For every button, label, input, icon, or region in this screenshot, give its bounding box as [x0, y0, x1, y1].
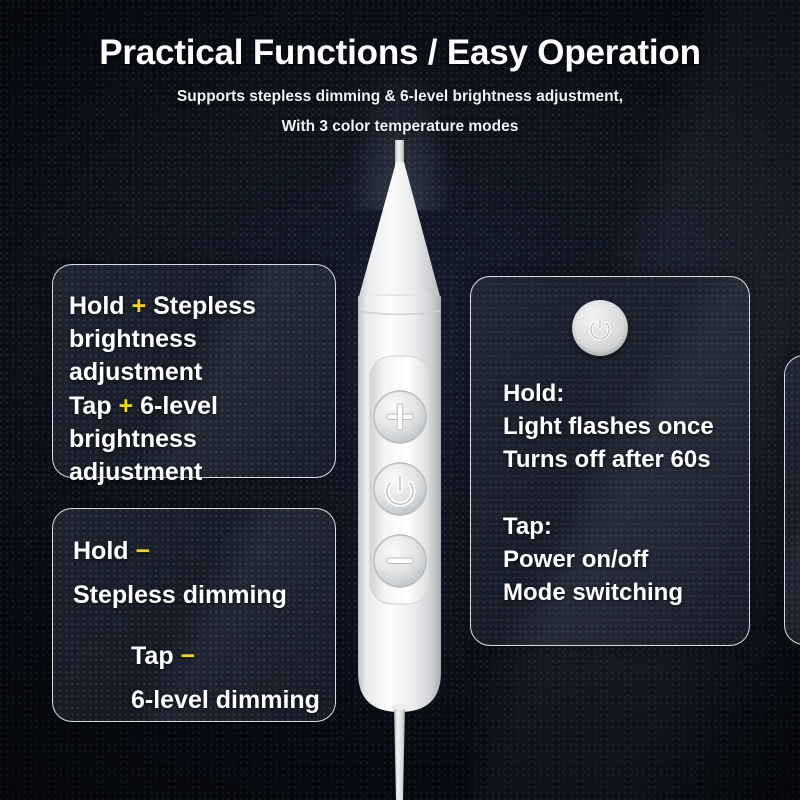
text-brightness-adjustment: brightness adjustment — [69, 425, 202, 486]
card-dot-texture — [785, 356, 800, 644]
text-stepless: Stepless — [153, 292, 256, 320]
text-turns-off-after-60s: Turns off after 60s — [503, 446, 711, 473]
callout-card-power-button: Hold: Light flashes once Turns off after… — [470, 276, 750, 646]
plus-symbol-icon: + — [132, 292, 147, 320]
callout-bottomleft-block-2: Tap − 6-level dimming — [131, 634, 320, 722]
text-6-level-dimming: 6-level dimming — [131, 686, 320, 714]
action-label-tap: Tap — [131, 642, 174, 670]
page-title: Practical Functions / Easy Operation — [0, 33, 800, 73]
text-6-level: 6-level — [140, 392, 218, 420]
callout-right-block-2: Tap: Power on/off Mode switching — [503, 510, 683, 609]
power-icon — [572, 300, 628, 356]
plus-symbol-icon: + — [119, 392, 134, 420]
page-subtitle-line-1: Supports stepless dimming & 6-level brig… — [0, 88, 800, 106]
minus-symbol-icon: − — [136, 537, 151, 565]
action-label-hold: Hold — [69, 292, 125, 320]
text-mode-switching: Mode switching — [503, 579, 683, 606]
callout-bottomleft-block-1: Hold − Stepless dimming — [73, 529, 287, 617]
page-subtitle-line-2: With 3 color temperature modes — [0, 118, 800, 136]
callout-topleft-block-2: Tap + 6-level brightness adjustment — [69, 390, 335, 489]
callout-topleft-block-1: Hold + Stepless brightness adjustment — [69, 290, 335, 389]
minus-symbol-icon: − — [181, 642, 196, 670]
action-label-tap: Tap: — [503, 513, 552, 540]
text-stepless-dimming: Stepless dimming — [73, 581, 287, 609]
callout-right-block-1: Hold: Light flashes once Turns off after… — [503, 377, 714, 476]
product-infographic: Practical Functions / Easy Operation Sup… — [0, 0, 800, 800]
text-power-on-off: Power on/off — [503, 546, 648, 573]
text-light-flashes-once: Light flashes once — [503, 413, 714, 440]
action-label-hold: Hold — [73, 537, 129, 565]
action-label-tap: Tap — [69, 392, 112, 420]
callout-card-minus-button: Hold − Stepless dimming Tap − 6-level di… — [52, 508, 336, 722]
callout-card-partial-offscreen — [784, 355, 800, 645]
callout-card-plus-button: Hold + Stepless brightness adjustment Ta… — [52, 264, 336, 478]
action-label-hold: Hold: — [503, 380, 564, 407]
text-brightness-adjustment: brightness adjustment — [69, 325, 202, 386]
